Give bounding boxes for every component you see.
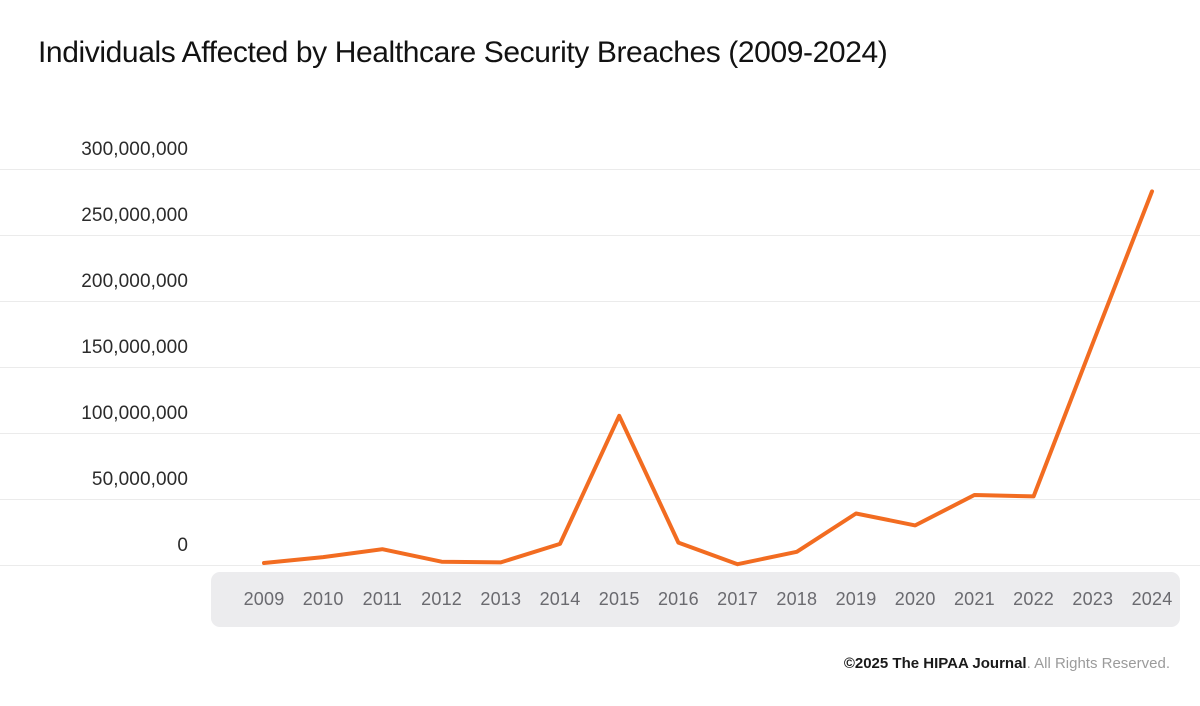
x-axis-tick-label: 2019 [836, 589, 877, 610]
x-axis-tick-label: 2018 [776, 589, 817, 610]
x-axis-tick-label: 2010 [303, 589, 344, 610]
x-axis-tick-label: 2020 [895, 589, 936, 610]
chart-page: Individuals Affected by Healthcare Secur… [0, 0, 1200, 706]
footer-copyright: ©2025 The HIPAA Journal. All Rights Rese… [844, 655, 1170, 673]
x-axis-tick-label: 2011 [363, 589, 403, 610]
footer-rights: . All Rights Reserved. [1027, 655, 1170, 672]
plot-area: 300,000,000250,000,000200,000,000150,000… [0, 106, 1200, 571]
x-axis-tick-label: 2012 [421, 589, 462, 610]
x-axis-tick-label: 2024 [1132, 589, 1173, 610]
x-axis-tick-label: 2016 [658, 589, 699, 610]
x-axis-tick-label: 2015 [599, 589, 640, 610]
x-axis-tick-label: 2021 [954, 589, 995, 610]
x-axis-tick-label: 2009 [244, 589, 285, 610]
x-axis-tick-label: 2017 [717, 589, 758, 610]
line-series-layer [0, 106, 1200, 571]
series-line-individuals-affected [264, 191, 1152, 564]
x-axis-tick-label: 2023 [1072, 589, 1113, 610]
x-axis-tick-label: 2013 [480, 589, 521, 610]
footer-brand: ©2025 The HIPAA Journal [844, 655, 1027, 672]
x-axis-band: 2009201020112012201320142015201620172018… [211, 572, 1180, 627]
x-axis-tick-label: 2022 [1013, 589, 1054, 610]
x-axis-tick-label: 2014 [540, 589, 581, 610]
chart-title: Individuals Affected by Healthcare Secur… [38, 32, 887, 74]
